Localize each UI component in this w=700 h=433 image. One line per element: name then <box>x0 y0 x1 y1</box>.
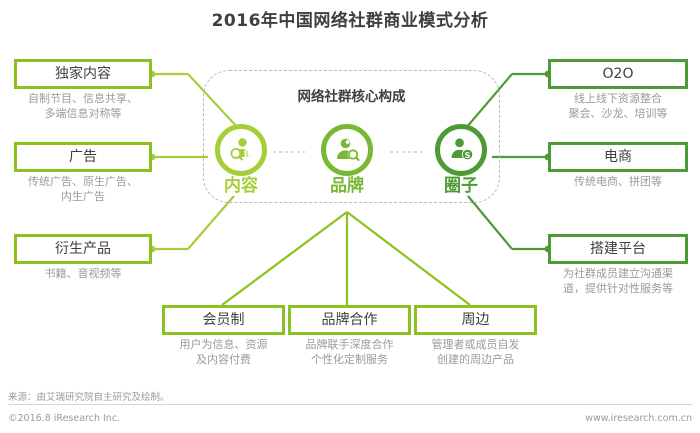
core-circle-circle[interactable]: S 圈子 <box>430 124 492 196</box>
source-note: 来源：由艾瑞研究院自主研究及绘制。 <box>8 389 170 403</box>
node-box[interactable]: 广告 <box>14 142 152 172</box>
circle-ring-brand <box>321 124 373 176</box>
node-ecommerce[interactable]: 电商 传统电商、拼团等 <box>548 142 688 190</box>
node-exclusive-content[interactable]: 独家内容 自制节目、信息共享、 多端信息对称等 <box>14 59 152 121</box>
core-circle-content[interactable]: 内容 <box>210 124 272 196</box>
node-description: 为社群成员建立沟通渠 道，提供针对性服务等 <box>548 267 688 296</box>
circle-ring-circle: S <box>435 124 487 176</box>
node-box[interactable]: 会员制 <box>162 305 285 335</box>
node-box[interactable]: 搭建平台 <box>548 234 688 264</box>
node-advertising[interactable]: 广告 传统广告、原生广告、 内生广告 <box>14 142 152 204</box>
node-platform-building[interactable]: 搭建平台 为社群成员建立沟通渠 道，提供针对性服务等 <box>548 234 688 296</box>
node-label: 衍生产品 <box>55 242 111 256</box>
node-derivative-products[interactable]: 衍生产品 书籍、音视频等 <box>14 234 152 282</box>
core-circle-label-brand: 品牌 <box>316 177 378 196</box>
person-chart-search-icon <box>226 135 256 165</box>
node-label: 搭建平台 <box>590 242 646 256</box>
core-circle-label-content: 内容 <box>210 177 272 196</box>
core-circle-label-circle: 圈子 <box>430 177 492 196</box>
node-label: 广告 <box>69 150 97 164</box>
node-membership[interactable]: 会员制 用户为信息、资源 及内容付费 <box>162 305 285 367</box>
website-url: www.iresearch.com.cn <box>585 413 692 424</box>
person-dollar-icon: S <box>446 135 476 165</box>
node-box[interactable]: 周边 <box>414 305 537 335</box>
node-box[interactable]: 独家内容 <box>14 59 152 89</box>
node-label: 周边 <box>462 313 490 327</box>
person-search-icon <box>332 135 362 165</box>
node-label: 独家内容 <box>55 67 111 81</box>
node-o2o[interactable]: O2O 线上线下资源整合 聚会、沙龙、培训等 <box>548 59 688 121</box>
node-box[interactable]: O2O <box>548 59 688 89</box>
node-label: 会员制 <box>203 313 245 327</box>
node-label: O2O <box>603 67 634 81</box>
node-description: 自制节目、信息共享、 多端信息对称等 <box>14 92 152 121</box>
node-box[interactable]: 品牌合作 <box>288 305 411 335</box>
node-description: 传统广告、原生广告、 内生广告 <box>14 175 152 204</box>
node-description: 书籍、音视频等 <box>14 267 152 282</box>
node-box[interactable]: 电商 <box>548 142 688 172</box>
node-description: 品牌联手深度合作 个性化定制服务 <box>288 338 411 367</box>
core-panel-title: 网络社群核心构成 <box>203 85 500 105</box>
svg-text:S: S <box>465 151 471 160</box>
node-brand-cooperation[interactable]: 品牌合作 品牌联手深度合作 个性化定制服务 <box>288 305 411 367</box>
infographic-canvas: 2016年中国网络社群商业模式分析 网络社群核心构成 <box>0 0 700 433</box>
node-box[interactable]: 衍生产品 <box>14 234 152 264</box>
node-peripherals[interactable]: 周边 管理者或成员自发 创建的周边产品 <box>414 305 537 367</box>
core-circle-brand[interactable]: 品牌 <box>316 124 378 196</box>
node-label: 电商 <box>604 150 632 164</box>
node-description: 管理者或成员自发 创建的周边产品 <box>414 338 537 367</box>
node-description: 线上线下资源整合 聚会、沙龙、培训等 <box>548 92 688 121</box>
node-description: 传统电商、拼团等 <box>548 175 688 190</box>
node-description: 用户为信息、资源 及内容付费 <box>162 338 285 367</box>
node-label: 品牌合作 <box>322 313 378 327</box>
circle-ring-content <box>215 124 267 176</box>
copyright-text: ©2016.8 iResearch Inc. <box>8 413 120 424</box>
footer-divider <box>8 404 692 405</box>
